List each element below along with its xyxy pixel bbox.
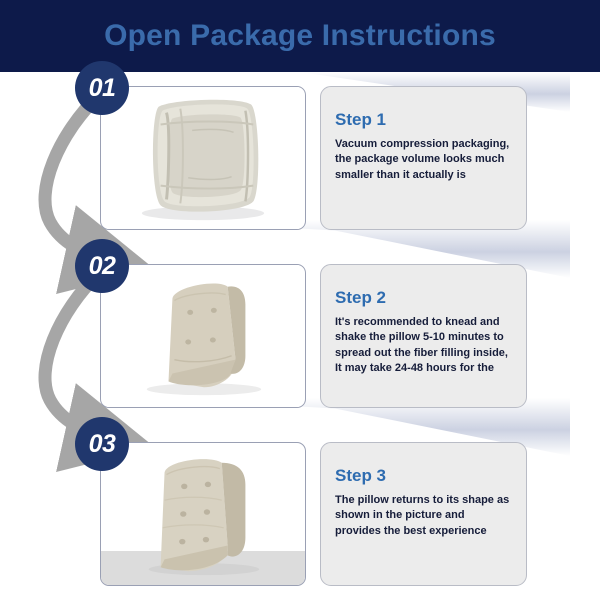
step-image-card-1 (100, 86, 306, 230)
step-text-card-1: Step 1 Vacuum compression packaging, the… (320, 86, 527, 230)
step-badge-2: 02 (75, 239, 129, 293)
instructions-board: Step 1 Vacuum compression packaging, the… (0, 72, 600, 573)
page-header: Open Package Instructions (0, 0, 600, 72)
step-badge-number-2: 02 (89, 254, 116, 279)
step-image-card-2 (100, 264, 306, 408)
step-badge-number-3: 03 (89, 432, 116, 457)
page-title: Open Package Instructions (104, 21, 496, 51)
step-text-card-2: Step 2 It's recommended to knead and sha… (320, 264, 527, 408)
step-row-3: Step 3 The pillow returns to its shape a… (0, 442, 600, 592)
step-row-1: Step 1 Vacuum compression packaging, the… (0, 86, 600, 236)
step-badge-1: 01 (75, 61, 129, 115)
step-body-1: Vacuum compression packaging, the packag… (335, 137, 510, 184)
step-body-2: It's recommended to knead and shake the … (335, 315, 510, 377)
step-title-1: Step 1 (335, 111, 510, 130)
step-text-card-3: Step 3 The pillow returns to its shape a… (320, 442, 527, 586)
step-image-card-3 (100, 442, 306, 586)
step-title-2: Step 2 (335, 289, 510, 308)
step-badge-3: 03 (75, 417, 129, 471)
fully-expanded-wedge-pillow-photo (101, 443, 305, 585)
step-title-3: Step 3 (335, 467, 510, 486)
vacuum-compressed-package-photo (101, 87, 305, 229)
partially-expanded-wedge-pillow-photo (101, 265, 305, 407)
step-badge-number-1: 01 (89, 76, 116, 101)
step-row-2: Step 2 It's recommended to knead and sha… (0, 264, 600, 414)
step-body-3: The pillow returns to its shape as shown… (335, 493, 510, 540)
